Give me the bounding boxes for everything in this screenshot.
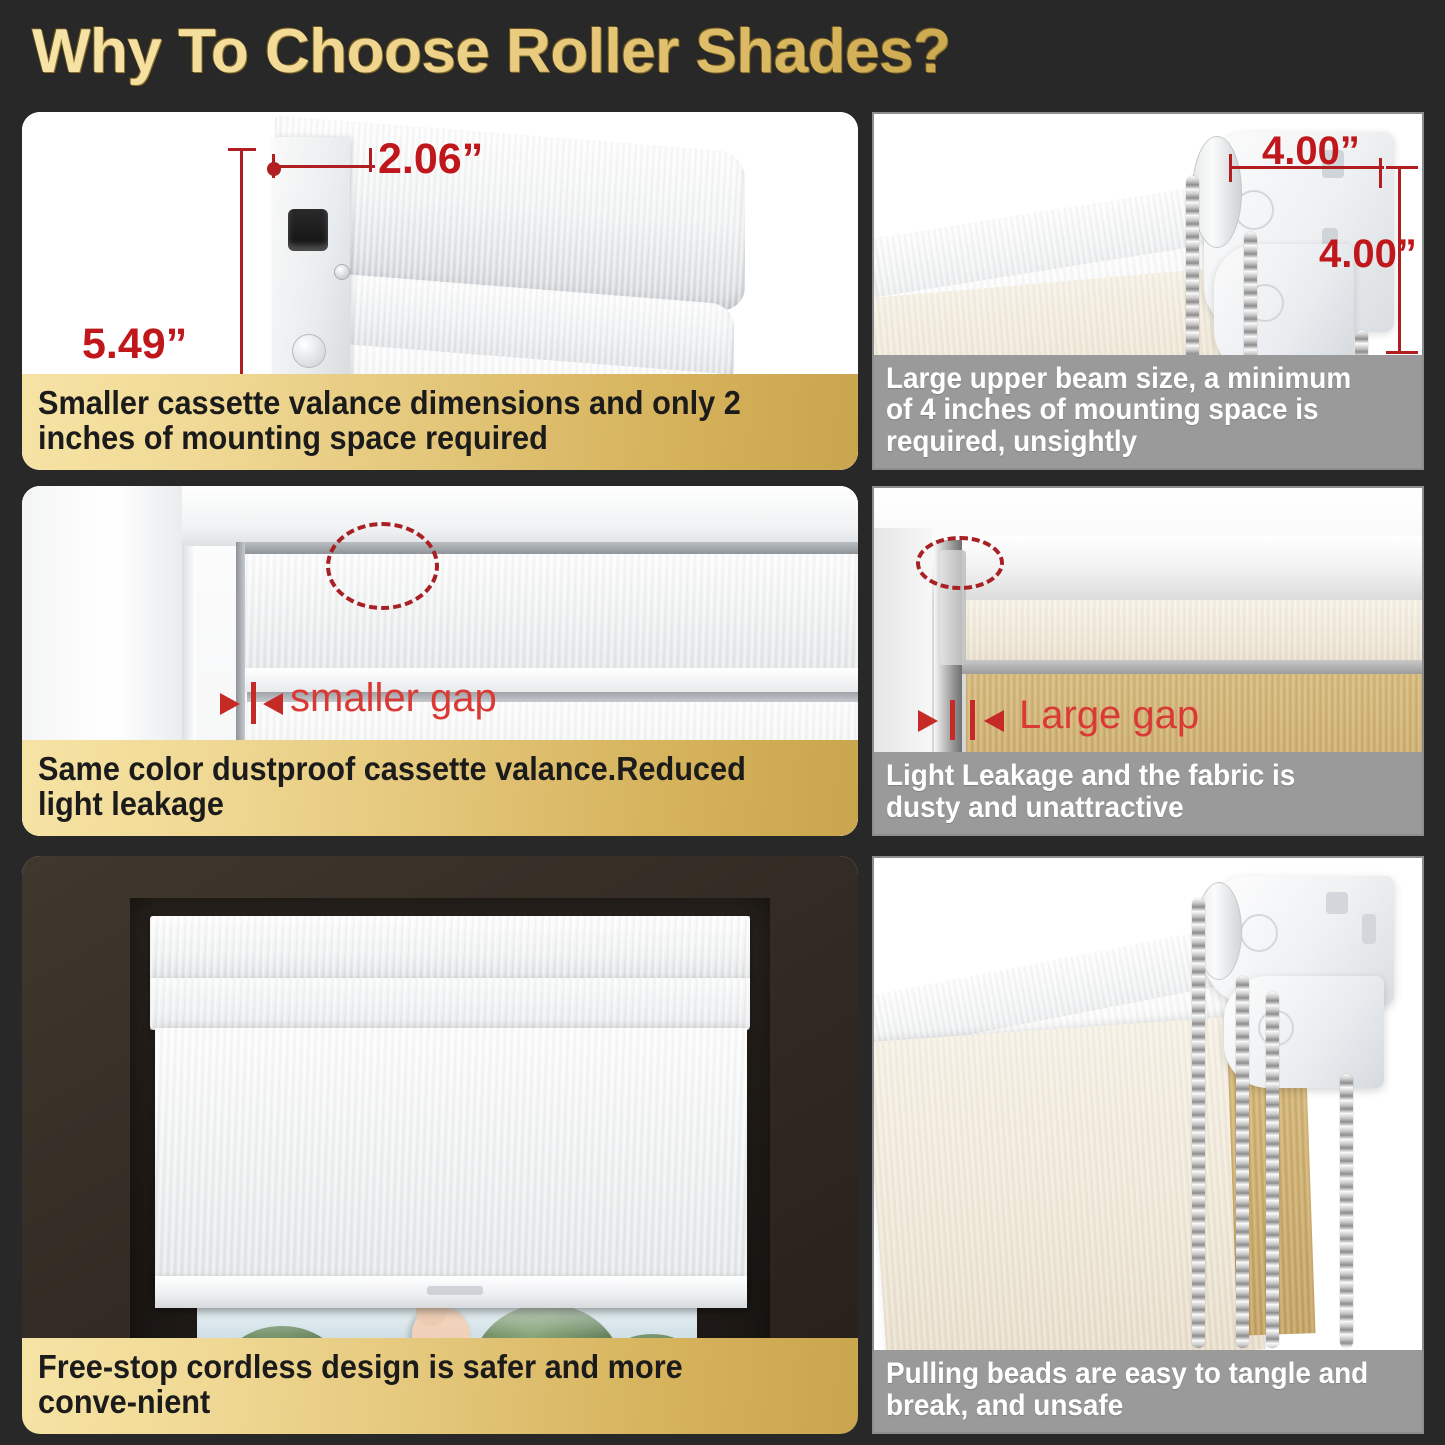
- caption-text: Free-stop cordless design is safer and m…: [38, 1350, 786, 1420]
- caption-con-bead-chain: Pulling beads are easy to tangle and bre…: [874, 1350, 1422, 1432]
- body-screw: [334, 264, 350, 280]
- height-dimension-label: 5.49”: [82, 320, 187, 369]
- roller-tube: [932, 536, 1422, 608]
- caption-text: Large upper beam size, a minimum of 4 in…: [886, 363, 1373, 458]
- height-dimension-label: 4.00”: [1319, 232, 1417, 277]
- width-dim-tick-left: [1229, 154, 1232, 182]
- shade-fabric: [155, 1028, 747, 1290]
- window-frame-top: [182, 486, 858, 546]
- width-dim-dot: [267, 162, 281, 176]
- bottom-rail: [155, 1276, 747, 1308]
- cream-fabric-drop: [874, 1016, 1265, 1376]
- width-dim-tick-right: [369, 148, 372, 172]
- end-cap-slot: [288, 209, 328, 251]
- panel-pro-small-gap: smaller gap Same color dustproof cassett…: [22, 486, 858, 836]
- panel-pro-cordless: Free-stop cordless design is safer and m…: [22, 856, 858, 1434]
- panel-pro-cassette-size: 5.49” 2.06” Smaller cassette valance dim…: [22, 112, 858, 470]
- page-title: Why To Choose Roller Shades?: [32, 16, 950, 87]
- bead-chain-left: [1192, 898, 1205, 1348]
- roller-end-disc: [1192, 136, 1242, 248]
- cream-fabric-band: [962, 600, 1422, 664]
- width-dimension-label: 4.00”: [1262, 129, 1360, 174]
- highlight-ellipse: [916, 536, 1004, 590]
- caption-text: Same color dustproof cassette valance.Re…: [38, 752, 786, 822]
- height-dim-tick-bottom: [1386, 351, 1418, 354]
- caption-text: Smaller cassette valance dimensions and …: [38, 386, 786, 456]
- gap-tick-left: [950, 700, 955, 740]
- gap-label: smaller gap: [290, 676, 497, 721]
- width-dim-line: [272, 165, 375, 168]
- caption-pro-small-gap: Same color dustproof cassette valance.Re…: [22, 740, 858, 836]
- headrail-lip: [150, 978, 750, 1030]
- bead-chain-middle: [1236, 976, 1249, 1348]
- panel-image-con-bead-chain: [874, 858, 1422, 1432]
- headrail-top: [150, 916, 750, 982]
- caption-con-large-gap: Light Leakage and the fabric is dusty an…: [874, 752, 1422, 834]
- header: Why To Choose Roller Shades?: [0, 0, 1445, 100]
- caption-con-beam-size: Large upper beam size, a minimum of 4 in…: [874, 355, 1422, 468]
- panel-con-beam-size: 4.00” 4.00” Large upper beam size, a min…: [872, 112, 1424, 470]
- gap-tick: [251, 682, 256, 724]
- caption-pro-cordless: Free-stop cordless design is safer and m…: [22, 1338, 858, 1434]
- fabric-edge-shadow: [962, 660, 1422, 674]
- end-cap-screw: [292, 334, 326, 368]
- gap-arrow-right: [984, 710, 1004, 732]
- panel-con-large-gap: Large gap Light Leakage and the fabric i…: [872, 486, 1424, 836]
- gap-arrow-right: [263, 693, 283, 715]
- bead-chain-right: [1340, 1074, 1353, 1348]
- gap-arrow-left: [220, 693, 240, 715]
- gap-label: Large gap: [1019, 693, 1199, 738]
- bottom-rail-grip: [427, 1286, 483, 1295]
- caption-pro-cassette-size: Smaller cassette valance dimensions and …: [22, 374, 858, 470]
- height-dim-tick-top: [228, 148, 256, 151]
- width-dim-tick-right: [1379, 158, 1382, 188]
- gap-arrow-left: [918, 710, 938, 732]
- gap-tick-right: [970, 700, 975, 740]
- panel-con-bead-chain: Pulling beads are easy to tangle and bre…: [872, 856, 1424, 1434]
- height-dim-tick-top: [1386, 166, 1418, 169]
- bead-chain-middle-2: [1266, 992, 1279, 1348]
- highlight-ellipse: [326, 522, 439, 610]
- caption-text: Pulling beads are easy to tangle and bre…: [886, 1358, 1373, 1422]
- caption-text: Light Leakage and the fabric is dusty an…: [886, 760, 1373, 824]
- comparison-grid: 5.49” 2.06” Smaller cassette valance dim…: [0, 100, 1445, 1445]
- width-dimension-label: 2.06”: [378, 135, 483, 184]
